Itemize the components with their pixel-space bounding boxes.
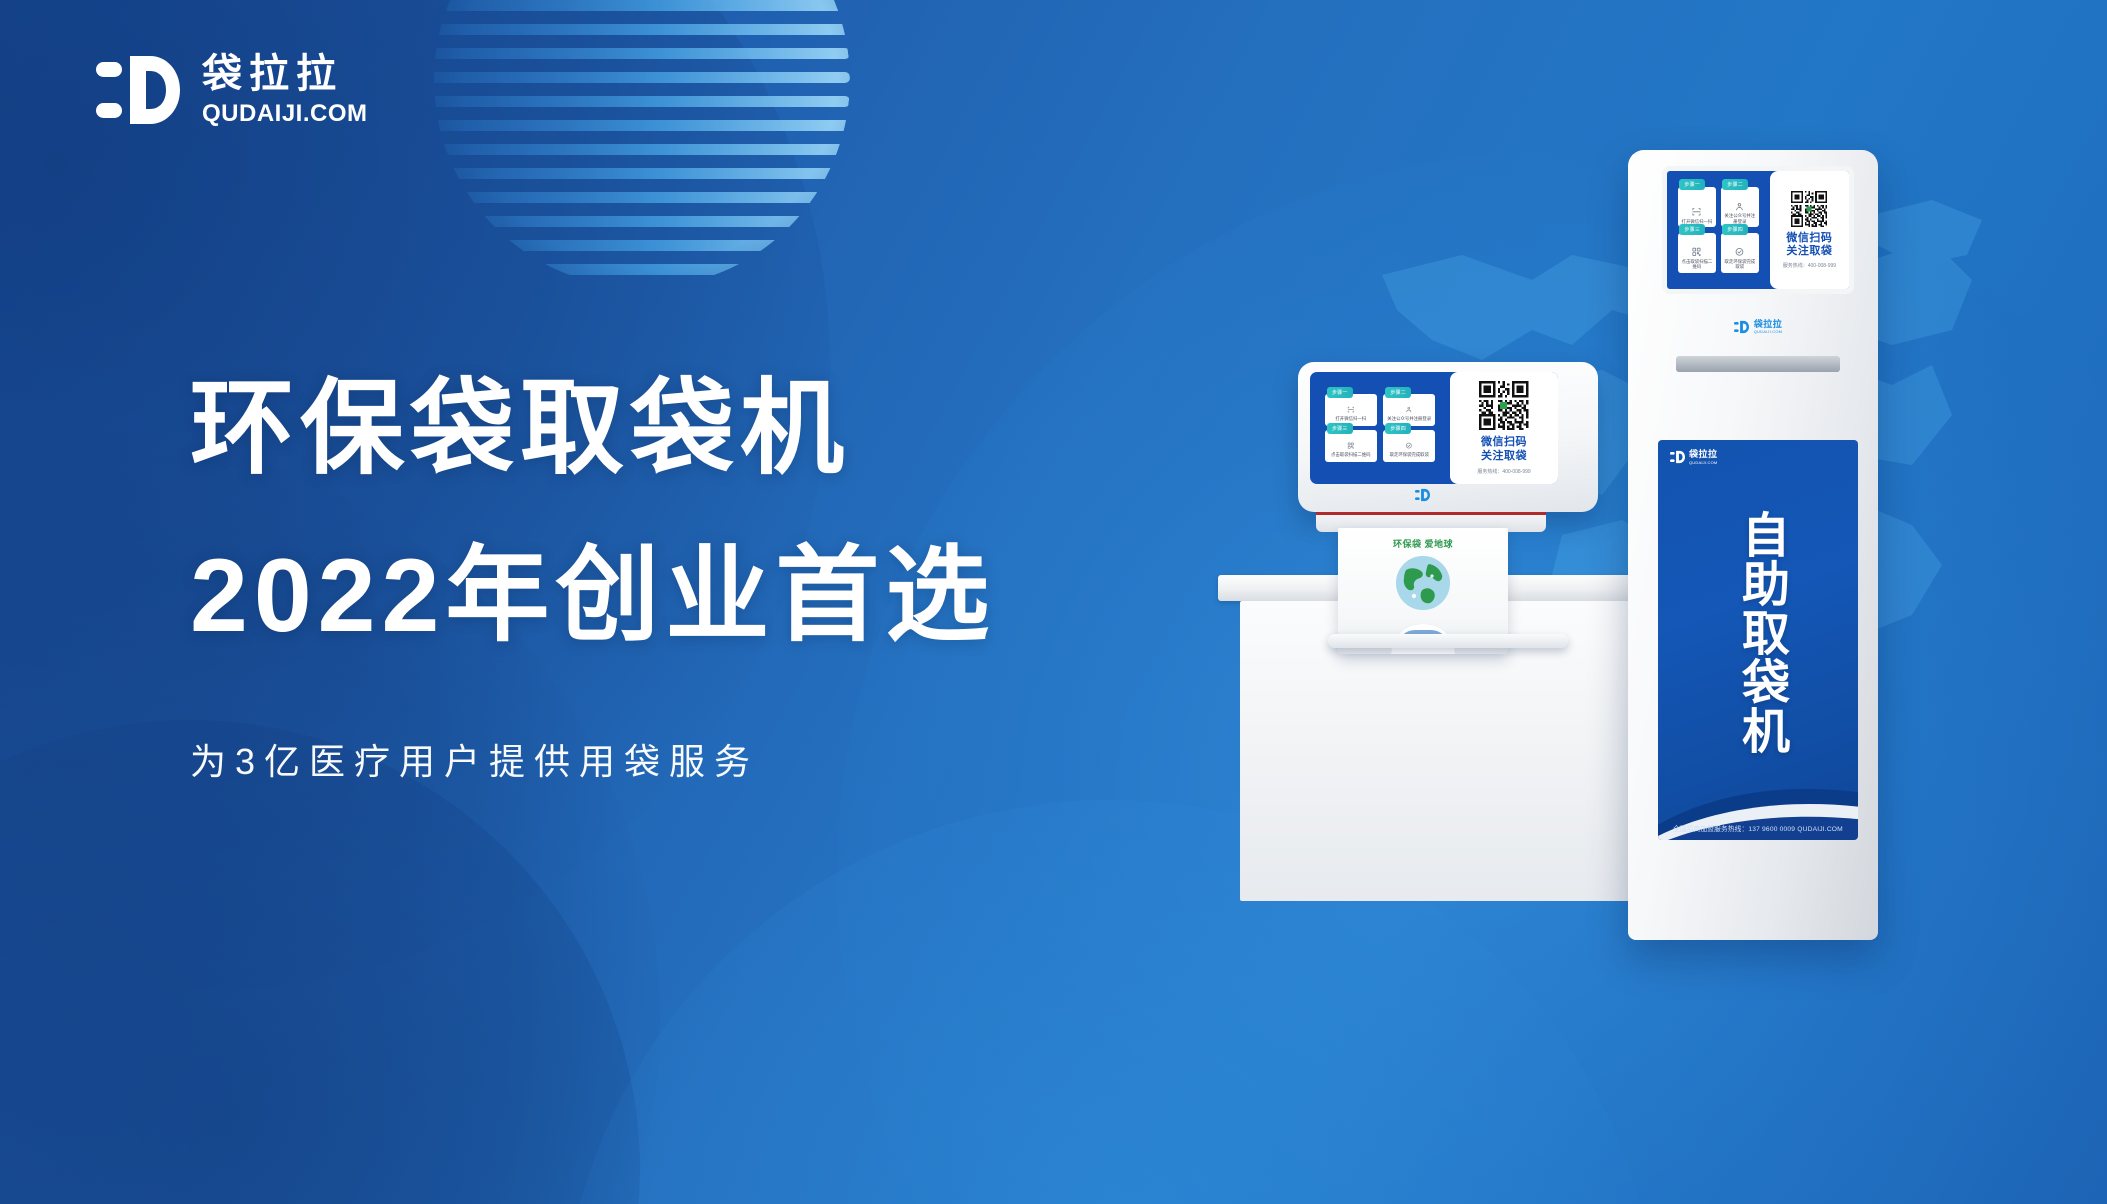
qr-scan-icon	[1690, 247, 1703, 257]
qr-caption: 微信扫码 关注取袋	[1481, 436, 1527, 463]
step-text: 点击取袋扫描二维码	[1678, 259, 1716, 270]
follow-account-icon	[1733, 202, 1746, 212]
scan-code-icon	[1690, 207, 1703, 217]
step-badge: 步骤二	[1385, 387, 1411, 398]
floor-kiosk-logo-band: 袋拉拉 QUDAIJI.COM	[1662, 310, 1854, 344]
step-card: 步骤二 关注公众号并注册登录	[1721, 187, 1759, 227]
desktop-kiosk-head: 步骤一 打开微信扫一扫 步骤二	[1298, 362, 1598, 512]
headline-line-2: 2022年创业首选	[190, 535, 1190, 658]
step-badge: 步骤三	[1327, 423, 1353, 434]
step-card: 步骤一 打开微信扫一扫	[1325, 394, 1377, 426]
qr-panel: 微信扫码 关注取袋 服务热线：400-008-999	[1450, 372, 1558, 484]
follow-account-icon	[1400, 406, 1418, 413]
step-text: 打开微信扫一扫	[1333, 416, 1368, 422]
check-circle-icon	[1400, 442, 1418, 449]
floor-kiosk-brand-domain: QUDAIJI.COM	[1754, 330, 1783, 334]
step-badge: 步骤二	[1722, 179, 1748, 190]
earth-globe-icon	[1396, 556, 1450, 610]
qr-caption: 微信扫码 关注取袋	[1786, 232, 1832, 259]
desktop-kiosk-screen[interactable]: 步骤一 打开微信扫一扫 步骤二	[1310, 372, 1558, 484]
panel-brand-domain: QUDAIJI.COM	[1689, 461, 1718, 465]
kiosk-screen-ui: 步骤一 打开微信扫一扫 步骤二	[1667, 171, 1849, 289]
step-card: 步骤三 点击取袋扫描二维码	[1678, 233, 1716, 273]
colon-d-logo-icon	[1415, 488, 1430, 502]
qr-scan-icon	[1342, 442, 1360, 449]
desktop-kiosk-logo	[1298, 488, 1546, 502]
desktop-kiosk: 步骤一 打开微信扫一扫 步骤二	[1298, 362, 1628, 662]
striped-circle-decoration	[430, 0, 850, 290]
qr-caption-line-1: 微信扫码	[1786, 232, 1832, 245]
qr-hotline: 服务热线：400-008-999	[1477, 468, 1530, 475]
bag-dispensing-slot	[1676, 356, 1840, 372]
step-text: 关注公众号并注册登录	[1721, 213, 1759, 224]
panel-footnote: 全国招商加盟服务热线：137 9600 0009 QUDAIJI.COM	[1663, 824, 1853, 834]
hero-subline: 为3亿医疗用户提供用袋服务	[190, 733, 1190, 785]
step-badge: 步骤一	[1327, 387, 1353, 398]
step-text: 取走环保袋完成取袋	[1387, 452, 1431, 458]
wechat-qr-code-icon[interactable]	[1791, 191, 1827, 227]
check-circle-icon	[1733, 247, 1746, 257]
step-text: 取走环保袋完成取袋	[1721, 259, 1759, 270]
panel-vertical-title: 自助取袋机	[1730, 498, 1786, 766]
desktop-kiosk-base	[1328, 634, 1568, 648]
floor-standing-kiosk: 步骤一 打开微信扫一扫 步骤二	[1610, 150, 1910, 950]
step-grid: 步骤一 打开微信扫一扫 步骤二	[1667, 171, 1770, 289]
colon-d-logo-icon	[1734, 320, 1749, 334]
step-card: 步骤一 打开微信扫一扫	[1678, 187, 1716, 227]
qr-caption-line-2: 关注取袋	[1481, 450, 1527, 463]
promotional-banner: 袋拉拉 QUDAIJI.COM 环保袋取袋机 2022年创业首选 为3亿医疗用户…	[0, 0, 2107, 1204]
floor-kiosk-screen[interactable]: 步骤一 打开微信扫一扫 步骤二	[1662, 166, 1854, 294]
step-badge: 步骤一	[1679, 179, 1705, 190]
panel-logo: 袋拉拉 QUDAIJI.COM	[1670, 450, 1718, 465]
step-badge: 步骤四	[1722, 224, 1748, 235]
step-text: 关注公众号并注册登录	[1385, 416, 1433, 422]
step-card: 步骤四 取走环保袋完成取袋	[1721, 233, 1759, 273]
step-grid: 步骤一 打开微信扫一扫 步骤二	[1310, 372, 1450, 484]
floor-kiosk-body: 步骤一 打开微信扫一扫 步骤二	[1628, 150, 1878, 940]
brand-domain: QUDAIJI.COM	[202, 101, 368, 126]
hero-copy-block: 环保袋取袋机 2022年创业首选 为3亿医疗用户提供用袋服务	[190, 368, 1190, 785]
background-blob-deep-bottom-left	[0, 720, 640, 1204]
panel-brand-cn: 袋拉拉	[1689, 450, 1718, 459]
colon-d-logo-icon	[1670, 450, 1685, 464]
eco-bag-slogan: 环保袋 爱地球	[1338, 537, 1508, 550]
floor-kiosk-brand-cn: 袋拉拉	[1754, 320, 1783, 329]
scan-code-icon	[1342, 406, 1360, 413]
headline-line-1: 环保袋取袋机	[190, 368, 1190, 491]
step-card: 步骤四 取走环保袋完成取袋	[1383, 430, 1435, 462]
step-card: 步骤二 关注公众号并注册登录	[1383, 394, 1435, 426]
product-photo-group: 步骤一 打开微信扫一扫 步骤二	[1180, 150, 2080, 990]
floor-kiosk-ad-panel: 袋拉拉 QUDAIJI.COM 自助取袋机 全国招商加盟服务热线：137 960…	[1658, 440, 1858, 840]
brand-name-cn: 袋拉拉	[202, 54, 368, 95]
colon-d-logo-icon	[96, 52, 180, 128]
qr-caption-line-2: 关注取袋	[1786, 245, 1832, 258]
wechat-qr-code-icon[interactable]	[1479, 381, 1528, 430]
step-badge: 步骤三	[1679, 224, 1705, 235]
qr-caption-line-1: 微信扫码	[1481, 436, 1527, 449]
brand-logo[interactable]: 袋拉拉 QUDAIJI.COM	[96, 52, 368, 128]
kiosk-screen-ui: 步骤一 打开微信扫一扫 步骤二	[1310, 372, 1558, 484]
step-text: 点击取袋扫描二维码	[1329, 452, 1373, 458]
step-badge: 步骤四	[1385, 423, 1411, 434]
step-card: 步骤三 点击取袋扫描二维码	[1325, 430, 1377, 462]
qr-hotline: 服务热线：400-008-999	[1783, 262, 1836, 269]
qr-panel: 微信扫码 关注取袋 服务热线：400-008-999	[1770, 171, 1849, 289]
